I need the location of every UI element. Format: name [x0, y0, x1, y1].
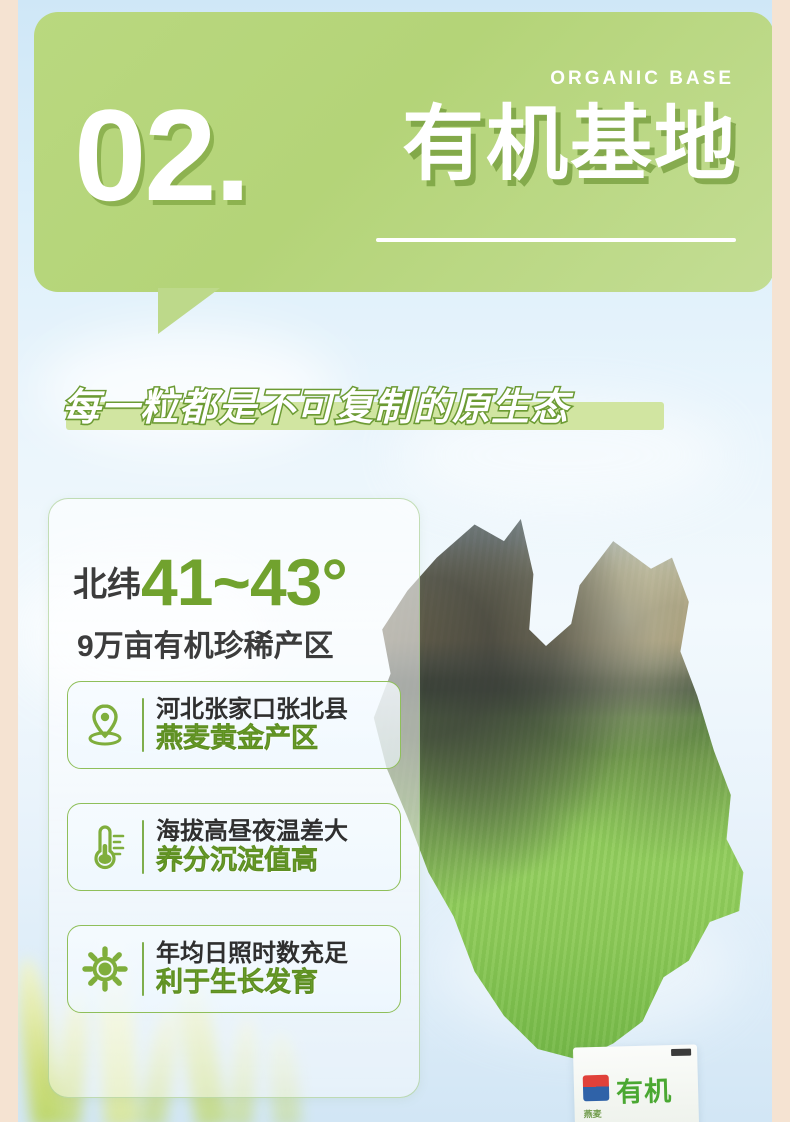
section-header-bubble: ORGANIC BASE 02. 有机基地: [34, 12, 772, 292]
product-package: 有机 燕麦: [573, 1044, 699, 1122]
package-logo-badge: [583, 1075, 610, 1102]
tagline-block: 每一粒都是不可复制的原生态: [62, 376, 569, 431]
card-line-primary: 海拔高昼夜温差大: [156, 819, 400, 844]
card-line-highlight: 利于生长发育: [156, 968, 400, 998]
panel-subtitle: 9万亩有机珍稀产区: [77, 621, 334, 665]
card-line-primary: 河北张家口张北县: [156, 697, 400, 722]
card-text: 河北张家口张北县 燕麦黄金产区: [144, 697, 400, 754]
frame-left-edge: [0, 0, 18, 1122]
card-line-highlight: 养分沉淀值高: [156, 846, 400, 876]
latitude-value: 41~43°: [141, 551, 347, 614]
sky-canvas: 有机 燕麦 ORGANIC BASE 02. 有机基地 每一粒都是不可复制的原生…: [18, 0, 772, 1122]
header-eyebrow: ORGANIC BASE: [550, 68, 734, 90]
feature-card-temperature[interactable]: 海拔高昼夜温差大 养分沉淀值高: [67, 803, 401, 891]
card-line-primary: 年均日照时数充足: [156, 941, 400, 966]
latitude-label: 北纬: [73, 557, 141, 614]
feature-card-list: 河北张家口张北县 燕麦黄金产区: [67, 681, 401, 1047]
sun-icon: [68, 926, 142, 1012]
title-underline: [376, 238, 736, 242]
feature-card-sunlight[interactable]: 年均日照时数充足 利于生长发育: [67, 925, 401, 1013]
card-line-highlight: 燕麦黄金产区: [156, 724, 400, 754]
card-text: 海拔高昼夜温差大 养分沉淀值高: [144, 819, 400, 876]
bubble-tail: [158, 288, 220, 334]
tagline-text: 每一粒都是不可复制的原生态: [62, 376, 569, 431]
page-title: 有机基地: [402, 104, 738, 186]
latitude-row: 北纬 41~43°: [73, 551, 413, 614]
thermometer-icon: [68, 804, 142, 890]
info-panel: 北纬 41~43° 9万亩有机珍稀产区 河北张家口张北县: [48, 498, 420, 1098]
package-seal-icon: [671, 1049, 691, 1057]
package-name: 有机: [616, 1069, 673, 1109]
card-text: 年均日照时数充足 利于生长发育: [144, 941, 400, 998]
poster-root: 有机 燕麦 ORGANIC BASE 02. 有机基地 每一粒都是不可复制的原生…: [0, 0, 790, 1122]
section-number: 02.: [74, 90, 249, 220]
feature-card-location[interactable]: 河北张家口张北县 燕麦黄金产区: [67, 681, 401, 769]
package-subtitle: 燕麦: [584, 1107, 602, 1120]
frame-right-edge: [772, 0, 790, 1122]
location-pin-icon: [68, 682, 142, 768]
